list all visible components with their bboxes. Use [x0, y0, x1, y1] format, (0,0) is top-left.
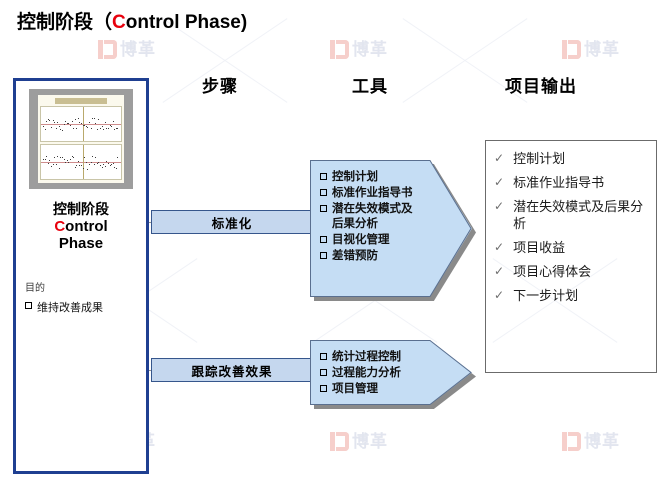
- output-item: ✓项目收益: [494, 239, 648, 256]
- watermark-text: 博革: [584, 40, 620, 59]
- output-item-label: 下一步计划: [513, 287, 578, 304]
- page-title-en-initial: C: [112, 12, 126, 33]
- square-bullet-icon: [320, 385, 327, 392]
- output-item-label: 标准作业指导书: [513, 174, 604, 191]
- watermark-logo: 博革: [98, 40, 156, 59]
- tool-item-label: 潜在失效模式及后果分析: [332, 202, 420, 232]
- step-bar-standardization[interactable]: 标准化: [151, 210, 313, 234]
- square-bullet-icon: [320, 173, 327, 180]
- brand-logo-icon: [562, 40, 581, 59]
- control-chart-thumbnail: [29, 89, 133, 189]
- watermark-text: 博革: [120, 40, 156, 59]
- tool-item: 目视化管理: [320, 233, 420, 248]
- output-item: ✓标准作业指导书: [494, 174, 648, 191]
- brand-logo-icon: [330, 432, 349, 451]
- square-bullet-icon: [25, 302, 32, 309]
- brand-logo-icon: [562, 432, 581, 451]
- output-item-label: 控制计划: [513, 150, 565, 167]
- check-icon: ✓: [494, 174, 504, 191]
- square-bullet-icon: [320, 189, 327, 196]
- purpose-item-label: 维持改善成果: [37, 299, 103, 315]
- page-title-cn: 控制阶段（: [17, 12, 112, 33]
- watermark-text: 博革: [352, 40, 388, 59]
- tool-item: 过程能力分析: [320, 366, 420, 381]
- watermark-logo: 博革: [562, 432, 620, 451]
- tool-item-label: 标准作业指导书: [332, 186, 413, 201]
- output-item: ✓项目心得体会: [494, 263, 648, 280]
- check-icon: ✓: [494, 239, 504, 256]
- tool-item: 项目管理: [320, 382, 420, 397]
- output-item-label: 项目收益: [513, 239, 565, 256]
- column-header-steps: 步骤: [202, 72, 238, 97]
- square-bullet-icon: [320, 252, 327, 259]
- thumbnail-title-bar: [40, 98, 122, 104]
- output-item-label: 项目心得体会: [513, 263, 591, 280]
- tool-item-label: 差错预防: [332, 249, 378, 264]
- tool-item-label: 统计过程控制: [332, 350, 401, 365]
- tool-item: 统计过程控制: [320, 350, 420, 365]
- check-icon: ✓: [494, 150, 504, 167]
- square-bullet-icon: [320, 353, 327, 360]
- thumbnail-xbar-chart: [40, 106, 122, 142]
- watermark-logo: 博革: [330, 432, 388, 451]
- tool-item-label: 目视化管理: [332, 233, 390, 248]
- output-item: ✓下一步计划: [494, 287, 648, 304]
- phase-panel: 控制阶段 Control Phase 目的 维持改善成果: [13, 78, 149, 474]
- project-output-box: ✓控制计划✓标准作业指导书✓潜在失效模式及后果分析✓项目收益✓项目心得体会✓下一…: [485, 140, 657, 373]
- check-icon: ✓: [494, 287, 504, 304]
- page-title-en-rest: ontrol Phase): [126, 12, 247, 33]
- brand-logo-icon: [330, 40, 349, 59]
- tool-item-label: 控制计划: [332, 170, 378, 185]
- step-bar-track-results[interactable]: 跟踪改善效果: [151, 358, 313, 382]
- watermark-text: 博革: [584, 432, 620, 451]
- tools-list-2: 统计过程控制过程能力分析项目管理: [320, 350, 420, 398]
- output-item: ✓潜在失效模式及后果分析: [494, 198, 648, 232]
- purpose-item: 维持改善成果: [25, 299, 103, 315]
- square-bullet-icon: [320, 369, 327, 376]
- tool-item-label: 项目管理: [332, 382, 378, 397]
- watermark-logo: 博革: [562, 40, 620, 59]
- column-header-output: 项目输出: [505, 72, 577, 97]
- thumbnail-range-chart: [40, 144, 122, 180]
- purpose-list: 维持改善成果: [25, 299, 103, 318]
- tools-pentagon-2[interactable]: 统计过程控制过程能力分析项目管理: [310, 340, 472, 405]
- square-bullet-icon: [320, 236, 327, 243]
- brand-logo-icon: [98, 40, 117, 59]
- tools-pentagon-1[interactable]: 控制计划标准作业指导书潜在失效模式及后果分析目视化管理差错预防: [310, 160, 472, 297]
- tools-list-1: 控制计划标准作业指导书潜在失效模式及后果分析目视化管理差错预防: [320, 170, 420, 265]
- output-item: ✓控制计划: [494, 150, 648, 167]
- square-bullet-icon: [320, 205, 327, 212]
- page-title: 控制阶段（Control Phase): [17, 7, 247, 34]
- tool-item: 标准作业指导书: [320, 186, 420, 201]
- phase-name: 控制阶段 Control Phase: [16, 201, 146, 252]
- output-item-label: 潜在失效模式及后果分析: [513, 198, 648, 232]
- watermark-logo: 博革: [330, 40, 388, 59]
- phase-name-en-line2: Phase: [16, 235, 146, 252]
- tool-item: 控制计划: [320, 170, 420, 185]
- column-header-tools: 工具: [352, 72, 388, 97]
- phase-name-en-line1: Control: [16, 218, 146, 235]
- watermark-text: 博革: [352, 432, 388, 451]
- phase-name-cn: 控制阶段: [16, 201, 146, 218]
- purpose-label: 目的: [25, 279, 45, 294]
- check-icon: ✓: [494, 263, 504, 280]
- tool-item: 差错预防: [320, 249, 420, 264]
- check-icon: ✓: [494, 198, 504, 215]
- tool-item: 潜在失效模式及后果分析: [320, 202, 420, 232]
- tool-item-label: 过程能力分析: [332, 366, 401, 381]
